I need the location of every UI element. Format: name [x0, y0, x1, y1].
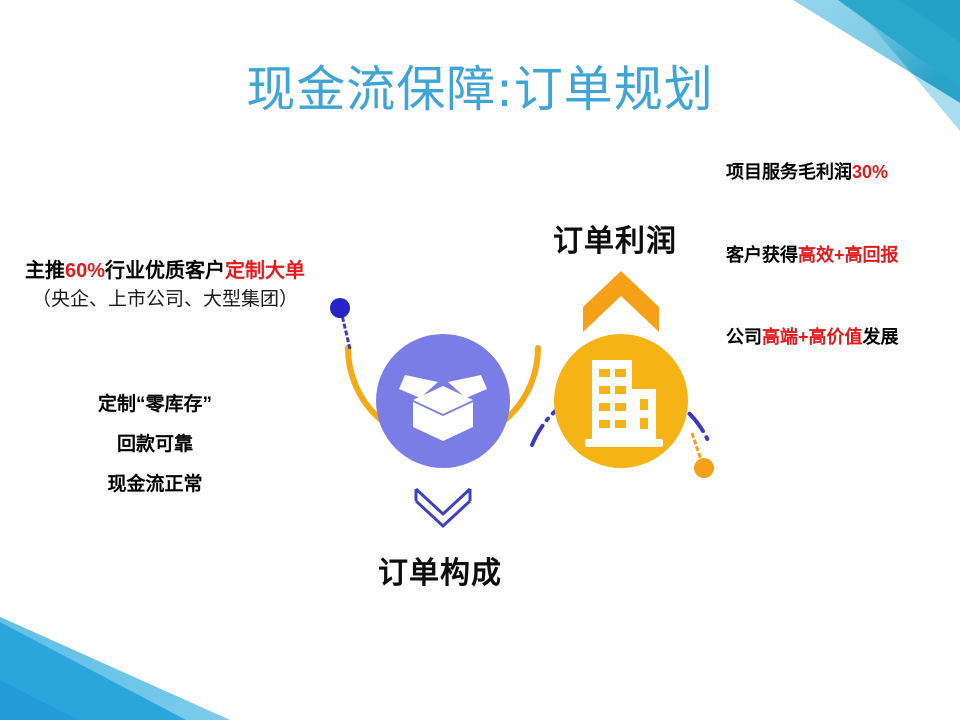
left-text-block: 主推60%行业优质客户定制大单 （央企、上市公司、大型集团）: [0, 258, 330, 315]
left-subline: （央企、上市公司、大型集团）: [0, 285, 330, 315]
decor-bottom-left-tail: [0, 680, 78, 720]
right-line-3-suffix: 发展: [863, 327, 899, 347]
orange-dot-stem: [692, 433, 701, 460]
left-tag-list: 定制“零库存” 回款可靠 现金流正常: [0, 385, 310, 505]
blue-dot: [330, 298, 350, 318]
blue-dot-stem: [342, 315, 350, 349]
left-headline: 主推60%行业优质客户定制大单: [0, 258, 330, 285]
left-tag-3: 现金流正常: [0, 465, 310, 505]
right-line-3-emphasis-1: 高端: [762, 327, 798, 347]
central-diagram: [320, 255, 740, 555]
decor-bottom-left-triangle: [0, 622, 186, 720]
decor-bottom-left-band: [0, 617, 230, 720]
right-line-1-prefix: 项目服务毛利润: [726, 162, 852, 182]
decor-bottom-left-band2: [0, 617, 230, 720]
right-line-3-plus: +: [798, 327, 809, 347]
slide-canvas: 现金流保障:订单规划 主推60%行业优质客户定制大单 （央企、上市公司、大型集团…: [0, 0, 960, 720]
right-line-1-percent: 30%: [852, 162, 888, 182]
left-headline-emphasis: 定制大单: [225, 260, 305, 282]
left-tag-1: 定制“零库存”: [0, 385, 310, 425]
left-headline-percent: 60%: [65, 260, 105, 282]
left-headline-middle: 行业优质客户: [105, 260, 225, 282]
chevron-up-icon: [583, 271, 659, 332]
right-line-2-emphasis-1: 高效: [798, 245, 834, 265]
orange-dot: [694, 458, 714, 478]
right-text-block: 项目服务毛利润30% 客户获得高效+高回报 公司高端+高价值发展: [726, 162, 960, 349]
right-line-2-emphasis-2: 高回报: [845, 245, 899, 265]
right-line-3-emphasis-2: 高价值: [809, 327, 863, 347]
right-line-2-plus: +: [834, 245, 845, 265]
right-line-3: 公司高端+高价值发展: [726, 327, 960, 349]
chevron-down-icon: [416, 489, 470, 526]
left-tag-2: 回款可靠: [0, 425, 310, 465]
right-line-1: 项目服务毛利润30%: [726, 162, 960, 184]
decor-top-right-tail: [900, 0, 960, 42]
left-headline-prefix: 主推: [25, 260, 65, 282]
page-title: 现金流保障:订单规划: [0, 62, 960, 118]
heading-order-profit: 订单利润: [520, 216, 710, 260]
right-line-2: 客户获得高效+高回报: [726, 245, 960, 267]
